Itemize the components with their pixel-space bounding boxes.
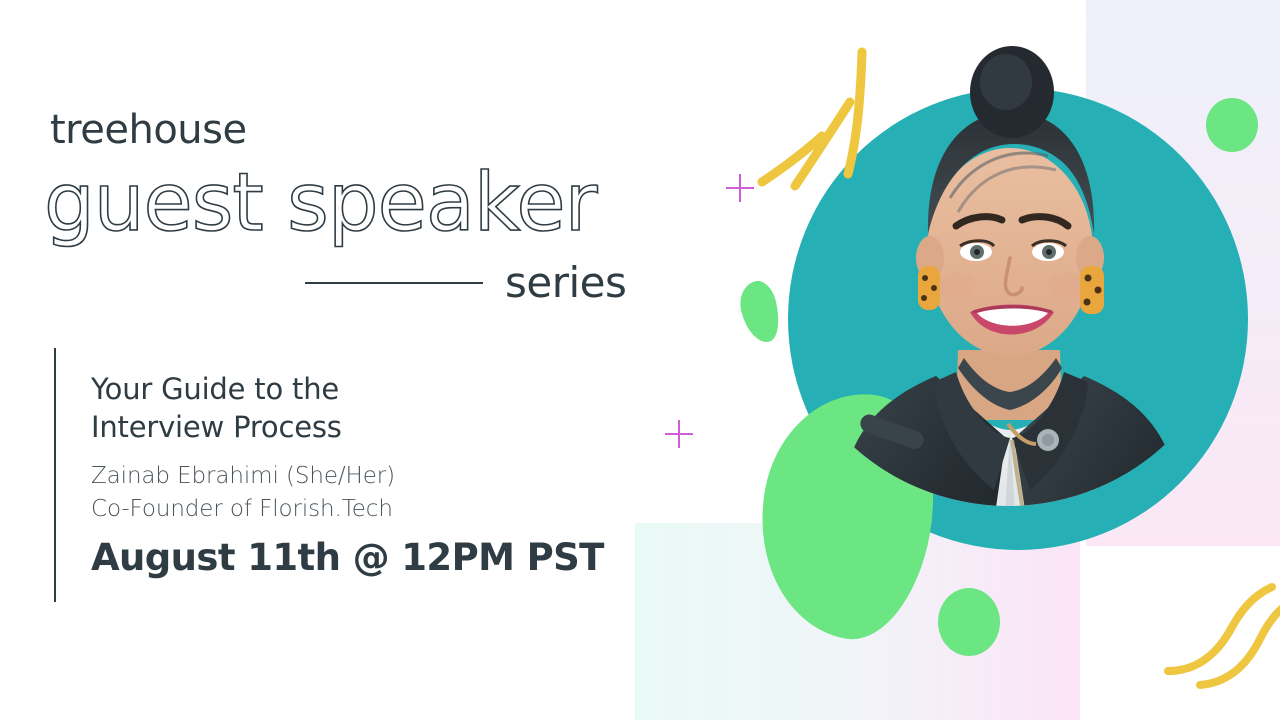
- series-label: series: [505, 258, 626, 307]
- event-datetime: August 11th @ 12PM PST: [91, 536, 604, 579]
- talk-title: Your Guide to the Interview Process: [91, 370, 571, 447]
- series-row: series: [305, 258, 626, 307]
- slide-canvas: treehouse guest speaker series Your Guid…: [0, 0, 1280, 720]
- plus-mark-icon: [665, 420, 693, 448]
- brand-logo-text: treehouse: [50, 107, 247, 153]
- speaker-portrait-image: [760, 20, 1260, 660]
- speaker-name: Zainab Ebrahimi (She/Her): [91, 460, 591, 493]
- talk-title-line-1: Your Guide to the: [91, 370, 571, 408]
- speaker-info: Zainab Ebrahimi (She/Her) Co-Founder of …: [91, 460, 591, 526]
- series-divider-rule: [305, 282, 483, 284]
- headline-outline-text: guest speaker: [44, 163, 596, 243]
- vertical-accent-bar: [54, 348, 56, 602]
- talk-title-line-2: Interview Process: [91, 408, 571, 446]
- text-content-column: treehouse guest speaker series Your Guid…: [0, 0, 660, 720]
- speaker-role: Co-Founder of Florish.Tech: [91, 493, 591, 526]
